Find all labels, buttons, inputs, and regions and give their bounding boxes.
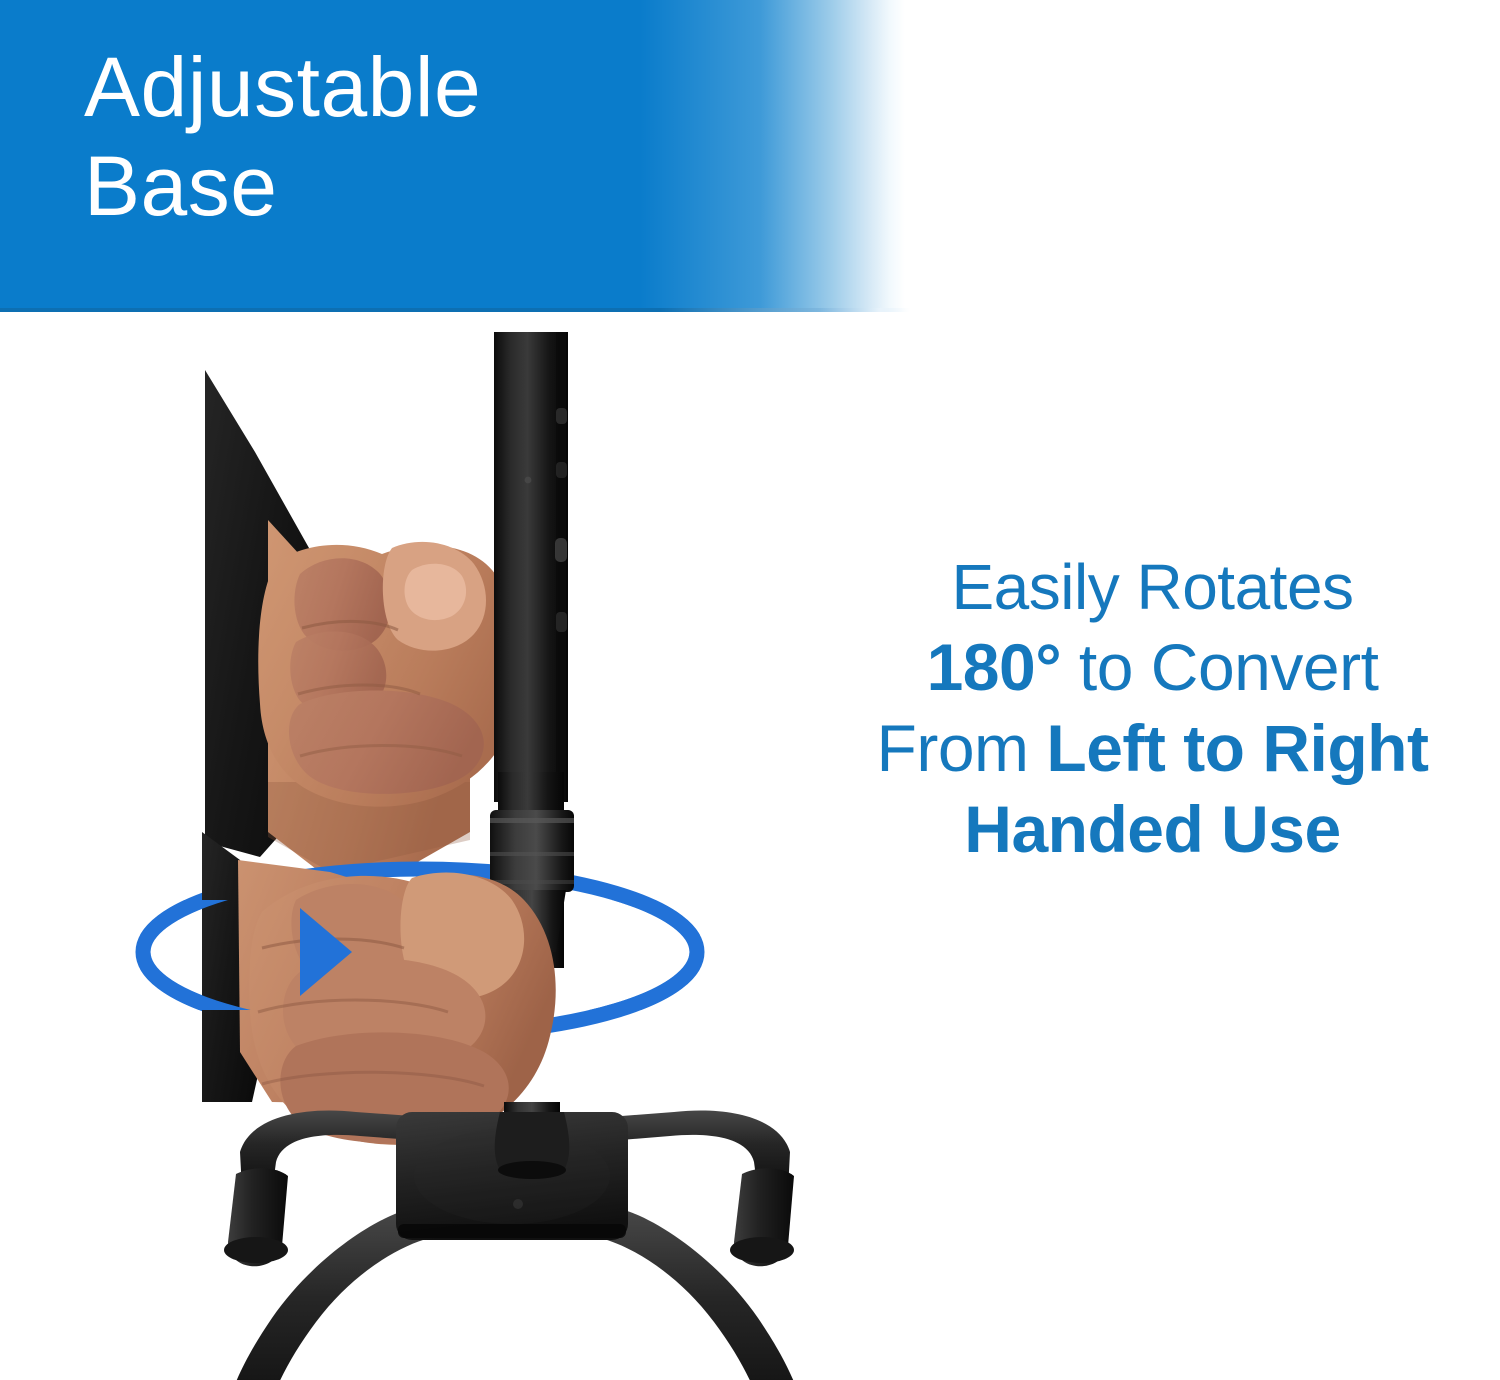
callout-handed-use: Handed Use	[964, 792, 1340, 866]
callout-line-3-prefix: From	[877, 711, 1047, 785]
callout-left-to-right: Left to Right	[1046, 711, 1428, 785]
upper-fist-group	[258, 542, 523, 807]
rubber-tip-rear-right	[730, 1168, 794, 1266]
product-feature-image: Adjustable Base	[0, 0, 1500, 1380]
shaft-notch-2	[556, 462, 567, 478]
upper-fist-thumbnail	[405, 564, 467, 620]
rubber-tip-rear-left	[224, 1168, 288, 1266]
banner-title: Adjustable Base	[84, 38, 784, 236]
shaft-hole-1	[525, 477, 532, 484]
product-photo	[0, 312, 820, 1380]
shaft-notch-1	[556, 408, 567, 424]
feature-callout: Easily Rotates 180° to Convert From Left…	[805, 548, 1500, 870]
upper-fist-fingers-lower	[289, 691, 484, 794]
quad-cane-base	[196, 1111, 820, 1380]
base-plate-lip	[398, 1224, 626, 1238]
base-plate-screw	[513, 1199, 523, 1209]
header-banner: Adjustable Base	[0, 0, 1500, 312]
upper-cane-shaft	[494, 332, 568, 802]
callout-line-1: Easily Rotates	[805, 548, 1500, 627]
shaft-notch-3	[555, 538, 567, 562]
callout-degrees: 180°	[927, 630, 1062, 704]
shaft-notch-4	[556, 612, 567, 632]
callout-line-3: From Left to Right	[805, 708, 1500, 789]
callout-line-2: 180° to Convert	[805, 627, 1500, 708]
callout-line-4: Handed Use	[805, 789, 1500, 870]
cane-adjustment-collar	[490, 810, 574, 892]
callout-line-2-rest: to Convert	[1061, 630, 1378, 704]
